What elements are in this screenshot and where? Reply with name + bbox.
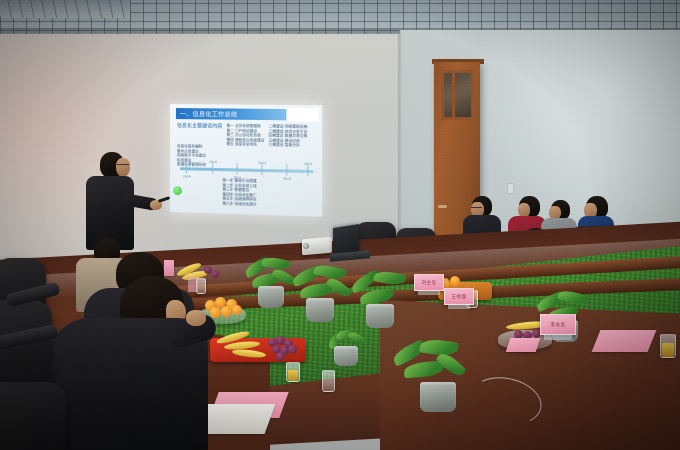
presenter-face <box>116 158 130 177</box>
tea-liquid <box>662 343 674 357</box>
placard-stand <box>448 304 470 309</box>
placard-stand <box>418 290 440 295</box>
ceiling-edge-left <box>0 0 130 18</box>
slide-subtitle: 信息化主要建设内容 <box>177 122 222 130</box>
slide-timeline-axis <box>180 167 314 173</box>
projected-slide: 一、信息化工作总结 信息化主要建设内容 信息化规划编制 基本业务建设 网络数字平… <box>170 104 322 217</box>
door-mullion <box>452 72 455 118</box>
pink-handout[interactable] <box>506 338 541 352</box>
slide-text-column-d: 第一步 基础平台搭建 第二步 业务系统上线 第三步 数据整合 第四步 应用深化推… <box>222 178 276 207</box>
door-window-glass <box>441 70 474 120</box>
office-chair[interactable] <box>0 382 66 450</box>
timeline-label: 2012 <box>258 161 266 165</box>
pink-handout[interactable] <box>592 330 657 352</box>
slide-white-panel <box>287 108 319 122</box>
pink-handout[interactable] <box>164 260 174 276</box>
timeline-tick <box>286 164 287 175</box>
glasses-icon <box>471 207 482 210</box>
timeline-tick <box>237 163 238 174</box>
timeline-tick <box>307 165 308 176</box>
tea-liquid <box>288 370 298 381</box>
timeline-label: 2011 <box>234 175 242 179</box>
slide-title: 一、信息化工作总结 <box>180 109 237 119</box>
slide-text-column-a: 信息化规划编制 基本业务建设 网络数字平台建设 机房建设 数据资源管理系统 <box>177 144 223 168</box>
orange-fruit <box>221 306 232 317</box>
name-placard: 李总监 <box>540 314 576 335</box>
door-handle[interactable] <box>438 205 447 208</box>
timeline-label: 2010 <box>209 160 217 164</box>
wall-outlet <box>507 183 514 194</box>
timeline-label: 2009 <box>183 174 191 178</box>
placard-stand <box>544 334 572 340</box>
grape <box>276 352 285 361</box>
timeline-tick <box>261 164 262 175</box>
glasses-icon <box>117 164 129 167</box>
name-placard: 王经理 <box>444 288 474 305</box>
placard-stand <box>188 276 198 292</box>
orange-fruit <box>232 305 242 315</box>
slide-text-column-c: 二期建设 网络基础设施 三期建设 综合业务平台 四期建设 数据共享交换 五期建设… <box>269 124 315 148</box>
timeline-label: 2014 <box>304 162 312 166</box>
timeline-tick <box>212 163 213 174</box>
slide-bullet-dot <box>173 186 182 195</box>
timeline-label: 2013 <box>283 177 291 181</box>
grape <box>211 270 219 278</box>
orange-fruit <box>450 276 460 286</box>
projector-lens <box>303 243 309 249</box>
meeting-room-photo: 一、信息化工作总结 信息化主要建设内容 信息化规划编制 基本业务建设 网络数字平… <box>0 0 680 450</box>
attendee-hand <box>186 310 206 326</box>
water-glass[interactable] <box>322 370 335 392</box>
name-placard: 刘主任 <box>414 274 444 291</box>
grape <box>288 345 297 354</box>
timeline-tick <box>186 162 187 173</box>
slide-text-column-b: 第一 业务系统数据库 第二 门户网站建设 第三 办公自动化系统 第四 视频会议系… <box>226 124 267 148</box>
orange-fruit <box>210 307 221 318</box>
